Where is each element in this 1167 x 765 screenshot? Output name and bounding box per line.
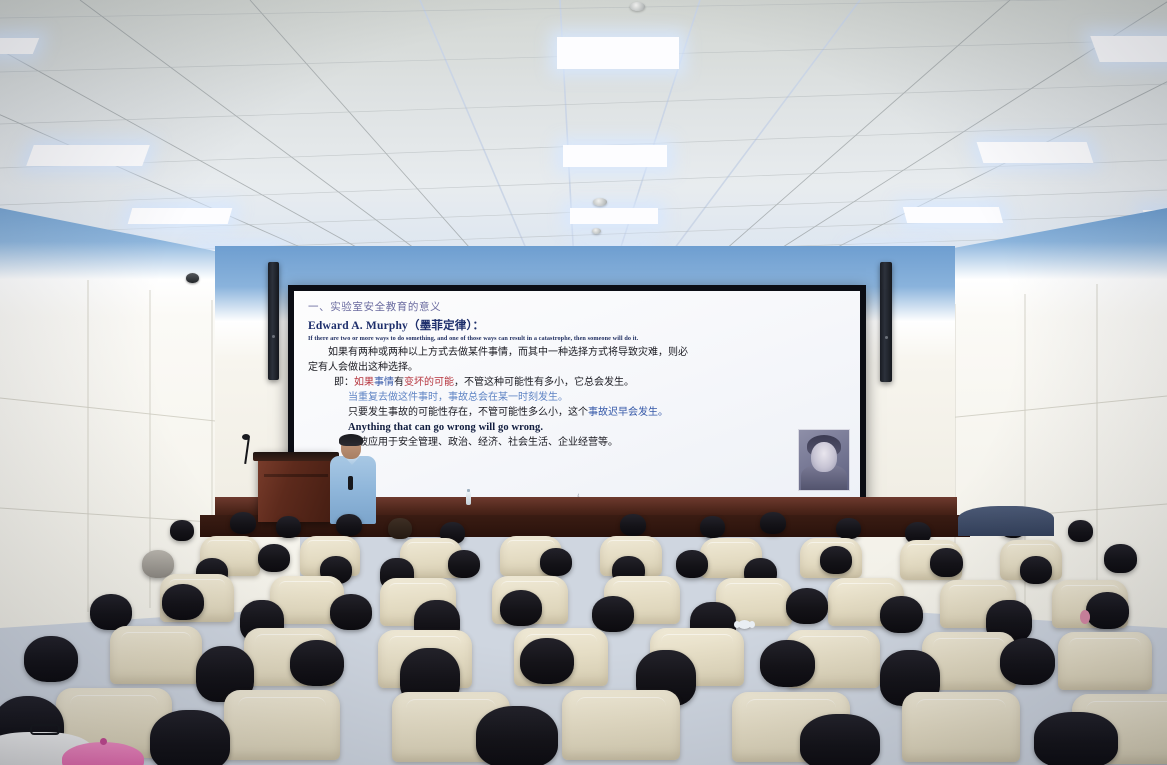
audience-head (820, 546, 852, 574)
slide-english-maxim: Anything that can go wrong will go wrong… (308, 420, 848, 435)
auditorium-seat[interactable] (902, 692, 1020, 762)
bullet-prefix: 即： (334, 377, 354, 388)
bullet-red-1: 如果 (354, 377, 374, 388)
audience-head (880, 596, 923, 633)
slide-closing-line: 论被应用于安全管理、政治、经济、社会生活、企业经营等。 (308, 435, 848, 450)
audience-head (162, 584, 204, 620)
audience-head (520, 638, 574, 684)
slide-subject-name: Edward A. Murphy（墨菲定律）： (308, 317, 848, 333)
audience-head (1104, 544, 1137, 573)
slide-paragraph-line2: 定有人会做出这种选择。 (308, 360, 848, 375)
podium-trim (264, 474, 328, 477)
presenter-handheld-mic (348, 476, 353, 490)
audience-head (330, 594, 372, 630)
ceiling-light-panel (570, 208, 658, 224)
ceiling-light-panel (26, 145, 150, 166)
wall-speaker-left (268, 262, 279, 380)
ceiling-light-panel (0, 38, 39, 54)
audience-head (620, 514, 646, 536)
audience-shoulders (958, 506, 1054, 536)
bullet-red-2: 变坏的可能 (404, 377, 454, 388)
dome-security-camera-icon (186, 273, 199, 283)
slide-title: 一、实验室安全教育的意义 (308, 299, 848, 314)
audience-head (1000, 638, 1055, 685)
sprinkler-head-icon (592, 228, 601, 234)
smoke-detector-icon (593, 198, 607, 206)
portrait-face (811, 442, 837, 472)
audience-head (230, 512, 256, 534)
podium-top (253, 452, 339, 461)
slide-english-definition: If there are two or more ways to do some… (308, 335, 848, 342)
ceiling-light-panel (977, 142, 1094, 163)
presenter-hair (339, 434, 363, 446)
ceiling-light-panel (563, 145, 667, 167)
bullet-dark-1: 有 (394, 377, 404, 388)
auditorium-seat[interactable] (562, 690, 680, 760)
auditorium-seat[interactable] (1058, 632, 1152, 690)
audience-head (676, 550, 708, 578)
ceiling-light-panel (1090, 36, 1167, 62)
audience-head (540, 548, 572, 576)
auditorium-seat[interactable] (224, 690, 340, 760)
audience-head (700, 516, 725, 538)
audience-head (760, 512, 786, 534)
auditorium-seat[interactable] (110, 626, 202, 684)
hair-accessory (1080, 610, 1090, 624)
audience-head (448, 550, 480, 578)
audience-head (336, 514, 362, 536)
audience-head (24, 636, 78, 682)
bullet-dark-2: 只要发生事故的可能性存在，不管可能性多么小，这个 (348, 407, 588, 418)
presentation-slide: 一、实验室安全教育的意义 Edward A. Murphy（墨菲定律）： If … (294, 291, 860, 501)
audience-head (1068, 520, 1093, 542)
bullet-rest-1: ，不管这种可能性有多小，它总会发生。 (454, 377, 634, 388)
audience-head (930, 548, 963, 577)
murphy-portrait-photo (798, 429, 850, 491)
audience-head (388, 518, 412, 539)
audience-head (500, 590, 542, 626)
audience-head (800, 714, 880, 765)
audience-head (836, 518, 861, 539)
hair-bow-accessory (738, 620, 751, 629)
audience-head (786, 588, 828, 624)
audience-head (476, 706, 558, 765)
ceiling-light-panel (557, 37, 679, 69)
ceiling-light-panel (128, 208, 233, 224)
projection-screen[interactable]: 一、实验室安全教育的意义 Edward A. Murphy（墨菲定律）： If … (294, 291, 860, 501)
smoke-detector-icon (630, 2, 645, 11)
audience-head (170, 520, 194, 541)
audience-head (592, 596, 634, 632)
audience-head (1034, 712, 1118, 765)
eyeglasses-icon (30, 724, 60, 735)
audience-head (290, 640, 344, 686)
audience-head (760, 640, 815, 687)
audience-head (1020, 556, 1052, 584)
lecture-hall-photo: 一、实验室安全教育的意义 Edward A. Murphy（墨菲定律）： If … (0, 0, 1167, 765)
bullet-blue-1: 事情 (374, 377, 394, 388)
audience-head (150, 710, 230, 765)
audience-head (276, 516, 301, 538)
ceiling-light-panel (903, 207, 1003, 223)
bullet-blue-2: 事故迟早会发生。 (588, 407, 668, 418)
slide-paragraph-line1: 如果有两种或两种以上方式去做某件事情，而其中一种选择方式将导致灾难，则必 (308, 345, 848, 360)
audience-seating (0, 500, 1167, 765)
slide-bullet-line-2: 当重复去做这件事时，事故总会在某一时刻发生。 (308, 390, 848, 405)
audience-head (142, 550, 174, 578)
audience-head (1086, 592, 1129, 629)
wall-speaker-right (880, 262, 892, 382)
audience-head (258, 544, 290, 572)
slide-bullet-line-3: 只要发生事故的可能性存在，不管可能性多么小，这个事故迟早会发生。 (308, 405, 848, 420)
audience-head (90, 594, 132, 630)
slide-bullet-line-1: 即：如果事情有变坏的可能，不管这种可能性有多小，它总会发生。 (308, 375, 848, 390)
